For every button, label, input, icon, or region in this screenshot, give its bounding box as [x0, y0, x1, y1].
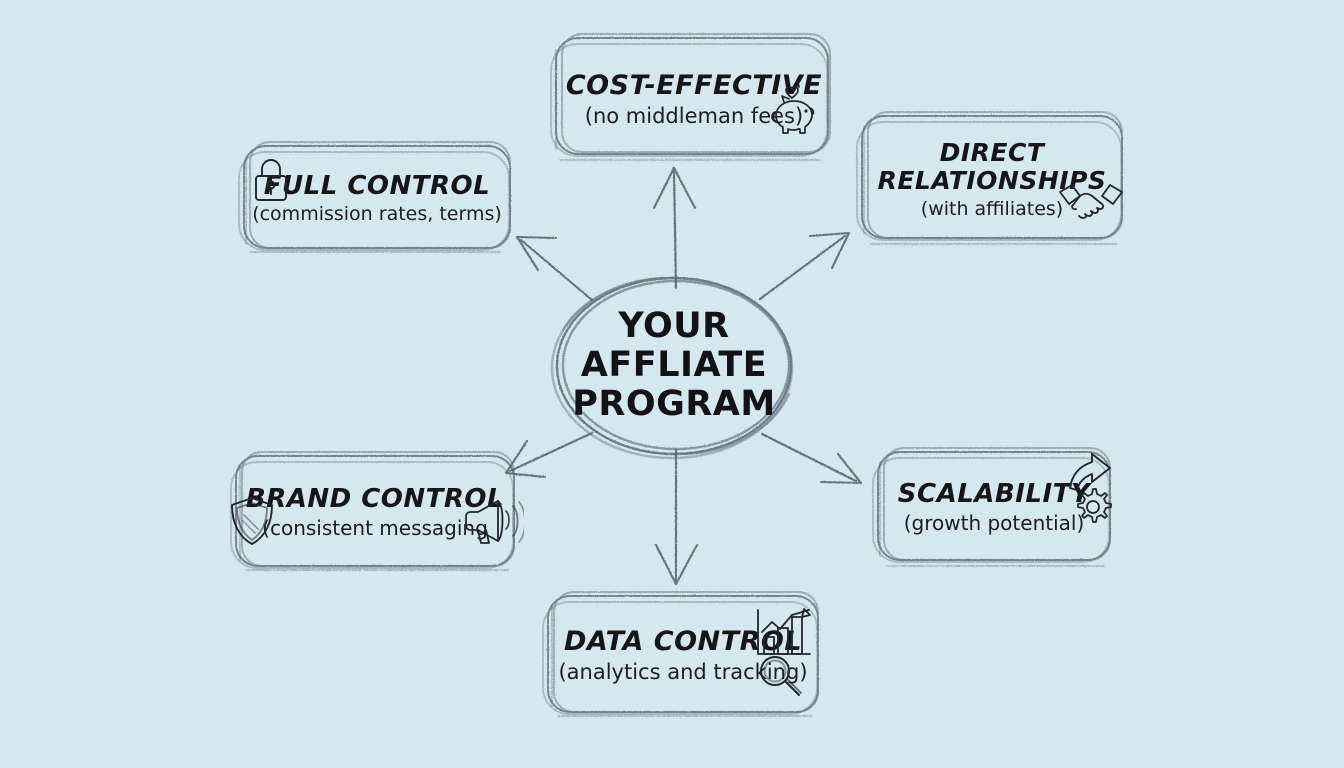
node-scalability-title: SCALABILITY [898, 481, 1090, 508]
center-label-line-2: AFFLIATE [581, 347, 767, 385]
node-cost-effective-subtitle: (no middleman fees) [585, 104, 803, 128]
node-direct-relationships-subtitle: (with affiliates) [921, 198, 1063, 220]
center-label-line-1: YOUR [618, 308, 729, 346]
node-cost-effective[interactable]: COST-EFFECTIVE (no middleman fees) [552, 36, 836, 164]
node-full-control-title: FULL CONTROL [264, 173, 490, 200]
node-scalability-subtitle: (growth potential) [904, 511, 1085, 535]
node-brand-control[interactable]: BRAND CONTROL (consistent messaging [230, 452, 520, 574]
node-data-control[interactable]: DATA CONTROL (analytics and tracking) [542, 592, 824, 720]
node-direct-relationships-title-line-1: DIRECT [940, 139, 1045, 167]
node-brand-control-subtitle: (consistent messaging [262, 516, 488, 540]
node-full-control[interactable]: FULL CONTROL (commission rates, terms) [238, 142, 516, 256]
node-data-control-subtitle: (analytics and tracking) [558, 660, 807, 684]
node-brand-control-title: BRAND CONTROL [246, 486, 504, 513]
node-data-control-title: DATA CONTROL [564, 628, 802, 656]
node-scalability[interactable]: SCALABILITY (growth potential) [872, 448, 1116, 568]
diagram-canvas: YOUR AFFLIATE PROGRAM COST-EFFECTIVE (no… [0, 0, 1344, 768]
center-node[interactable]: YOUR AFFLIATE PROGRAM [556, 278, 792, 454]
node-direct-relationships-title-line-2: RELATIONSHIPS [878, 167, 1107, 195]
node-cost-effective-title: COST-EFFECTIVE [566, 72, 822, 100]
node-full-control-subtitle: (commission rates, terms) [252, 203, 502, 225]
center-label-line-3: PROGRAM [572, 386, 775, 424]
node-direct-relationships[interactable]: DIRECT RELATIONSHIPS (with affiliates) [856, 112, 1128, 246]
